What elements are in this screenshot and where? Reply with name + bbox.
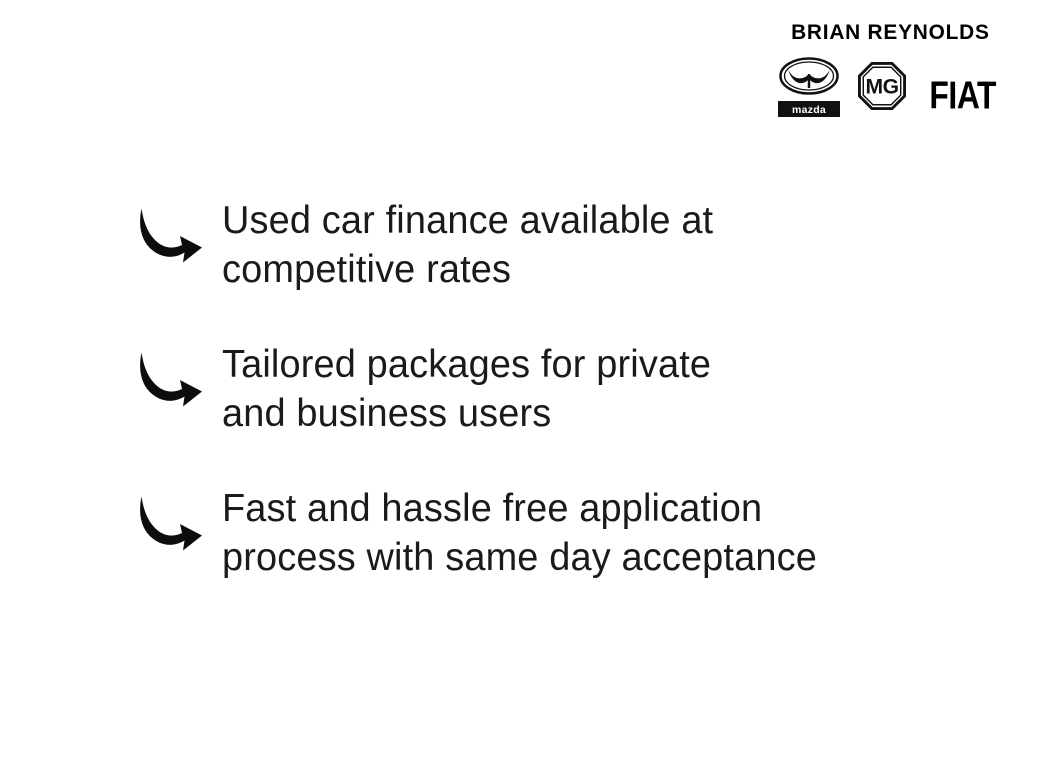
list-item-label: Fast and hassle free application process… <box>222 484 977 582</box>
list-item-label: Tailored packages for private and busine… <box>222 340 977 438</box>
fiat-logo-icon: FIAT <box>930 78 997 114</box>
curved-arrow-icon <box>128 346 204 416</box>
curved-arrow-icon <box>128 202 204 272</box>
list-item-label: Used car finance available at competitiv… <box>222 196 977 294</box>
marque-mazda: mazda <box>778 57 840 122</box>
list-item: Fast and hassle free application process… <box>128 484 988 582</box>
svg-text:mazda: mazda <box>792 104 826 116</box>
curved-arrow-icon <box>128 490 204 560</box>
mazda-logo-icon <box>779 57 839 100</box>
list-item: Used car finance available at competitiv… <box>128 196 988 294</box>
finance-promo-slide: BRIAN REYNOLDS mazda <box>0 0 1040 780</box>
benefits-list: Used car finance available at competitiv… <box>128 196 988 582</box>
list-item: Tailored packages for private and busine… <box>128 340 988 438</box>
marque-mg: MG <box>858 62 906 122</box>
dealer-branding: BRIAN REYNOLDS mazda <box>782 22 998 122</box>
dealer-name: BRIAN REYNOLDS <box>791 22 990 44</box>
mg-logo-icon: MG <box>858 62 906 115</box>
svg-text:MG: MG <box>866 75 899 98</box>
marque-fiat: FIAT <box>924 80 1001 121</box>
mazda-wordmark-icon: mazda <box>778 101 840 122</box>
marque-logo-row: mazda MG FIAT <box>782 57 998 122</box>
